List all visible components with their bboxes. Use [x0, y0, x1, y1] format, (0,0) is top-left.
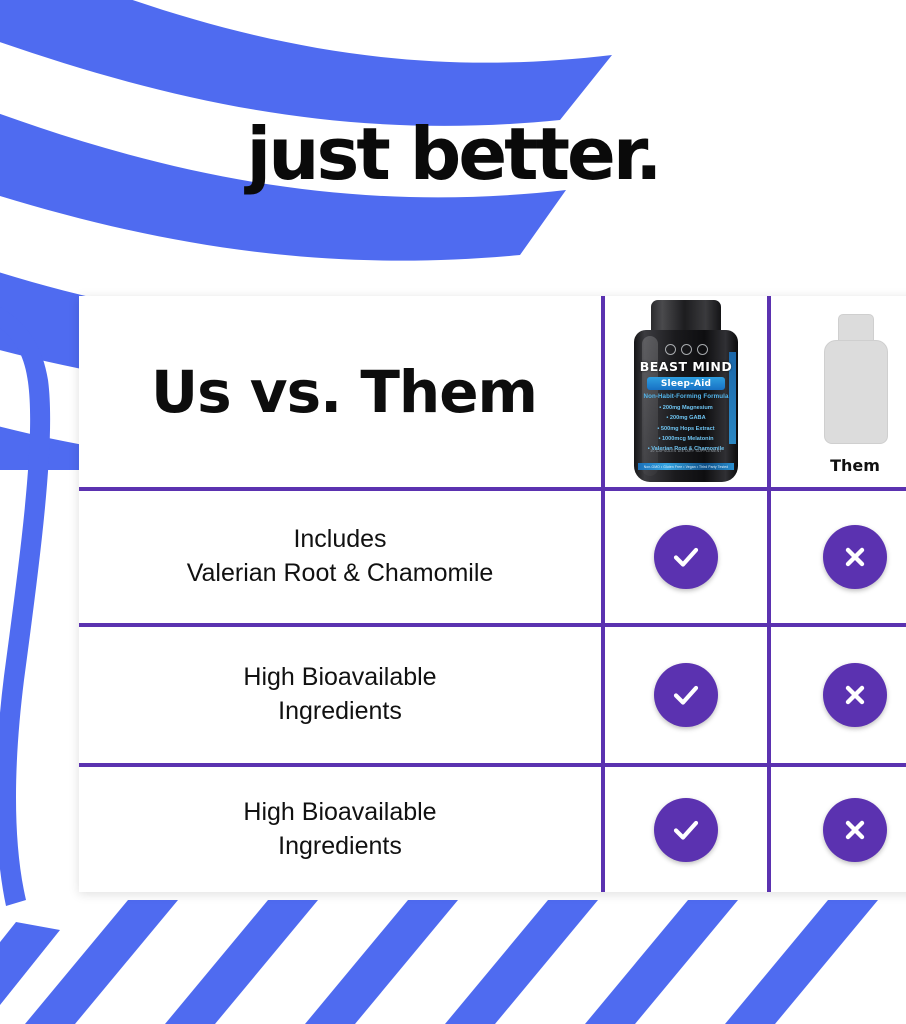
us-cell	[601, 491, 767, 623]
header-title-cell: Us vs. Them	[79, 296, 601, 487]
product-bottom-strip: Non-GMO • Gluten Free • Vegan • Third Pa…	[638, 463, 734, 470]
generic-bottle-icon	[824, 314, 886, 442]
competitor-bottle: Them	[771, 296, 906, 487]
ingredient-item: • 500mg Hops Extract	[634, 424, 738, 434]
vegan-icon	[681, 344, 692, 355]
feature-line-2: Valerian Root & Chamomile	[187, 557, 494, 591]
us-cell	[601, 627, 767, 763]
comparison-table: Us vs. Them	[79, 296, 906, 892]
page-title: Us vs. Them	[79, 358, 601, 426]
ingredient-item: • 200mg GABA	[634, 413, 738, 423]
product-strip-label: Non-GMO • Gluten Free • Vegan • Third Pa…	[644, 465, 729, 469]
product-footer: 30 CAPSULES DIETARY SUPPLEMENT	[634, 449, 738, 453]
ingredient-item: • 1000mcg Melatonin	[634, 434, 738, 444]
them-cell	[767, 627, 906, 763]
table-row: Includes Valerian Root & Chamomile	[79, 487, 906, 623]
feature-text: High Bioavailable Ingredients	[227, 661, 452, 729]
feature-text: Includes Valerian Root & Chamomile	[171, 523, 510, 591]
product-type-pill: Sleep-Aid	[647, 377, 725, 390]
table-row: High Bioavailable Ingredients	[79, 763, 906, 892]
header-us-cell: BEAST MIND Sleep-Aid Non-Habit-Forming F…	[601, 296, 767, 487]
feature-cell: High Bioavailable Ingredients	[79, 627, 601, 763]
feature-line-1: Includes	[187, 523, 494, 557]
generic-bottle-body	[824, 340, 888, 444]
poster-canvas: just better. Us vs. Them	[0, 0, 906, 1024]
ingredient-item: • 200mg Magnesium	[634, 403, 738, 413]
cross-icon	[823, 663, 887, 727]
gluten-free-icon	[697, 344, 708, 355]
page-headline: just better.	[0, 118, 906, 190]
product-ingredients: • 200mg Magnesium • 200mg GABA • 500mg H…	[634, 403, 738, 455]
product-tagline: Non-Habit-Forming Formula	[634, 393, 738, 400]
them-cell	[767, 767, 906, 892]
competitor-label: Them	[830, 456, 880, 475]
cross-icon	[823, 798, 887, 862]
product-type-label: Sleep-Aid	[661, 379, 711, 389]
cross-icon	[823, 525, 887, 589]
feature-text: High Bioavailable Ingredients	[227, 796, 452, 864]
feature-line-1: High Bioavailable	[243, 796, 436, 830]
check-icon	[654, 663, 718, 727]
product-bottle: BEAST MIND Sleep-Aid Non-Habit-Forming F…	[605, 296, 767, 487]
feature-cell: Includes Valerian Root & Chamomile	[79, 491, 601, 623]
certification-icons	[634, 344, 738, 355]
feature-line-2: Ingredients	[243, 695, 436, 729]
check-icon	[654, 798, 718, 862]
them-cell	[767, 491, 906, 623]
product-brand: BEAST MIND	[634, 359, 738, 374]
bottle-cap-icon	[651, 300, 721, 334]
comparison-card: Us vs. Them	[79, 296, 906, 892]
table-header-row: Us vs. Them	[79, 296, 906, 487]
table-row: High Bioavailable Ingredients	[79, 623, 906, 763]
non-gmo-icon	[665, 344, 676, 355]
us-cell	[601, 767, 767, 892]
feature-line-1: High Bioavailable	[243, 661, 436, 695]
feature-cell: High Bioavailable Ingredients	[79, 767, 601, 892]
check-icon	[654, 525, 718, 589]
feature-line-2: Ingredients	[243, 830, 436, 864]
header-them-cell: Them	[767, 296, 906, 487]
